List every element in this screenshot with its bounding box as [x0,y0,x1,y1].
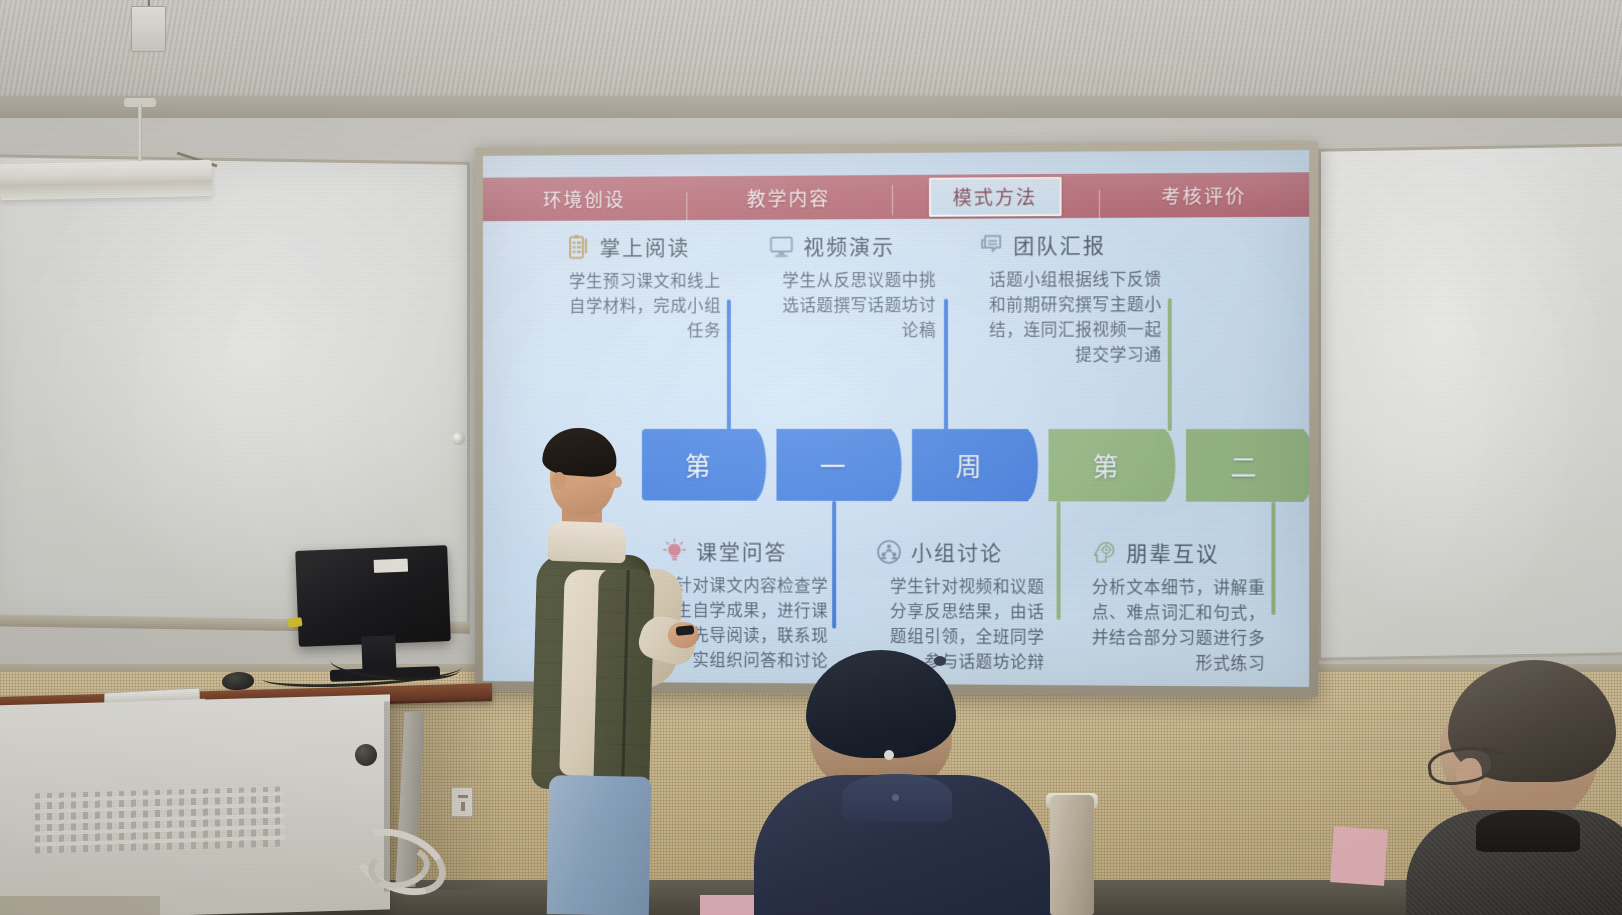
timeline-segment-5: 二 [1186,429,1304,502]
chevron-right-icon [753,429,787,501]
head-gear-icon [1091,540,1117,566]
presenter [500,418,700,915]
top-item-team-report: 团队汇报 话题小组根据线下反馈和前期研究撰写主题小结，连同汇报视频一起提交学习通 [978,230,1162,369]
timeline-segment-2: 一 [776,429,892,501]
light-rod [138,104,142,166]
connector-line-6 [1271,502,1281,615]
presenter-trousers [547,775,651,915]
clipboard-icon [565,234,591,260]
monitor-icon [769,233,795,259]
cap-strap [836,740,916,753]
item-title: 团队汇报 [1013,230,1106,261]
nav-tab-label-active: 模式方法 [929,176,1062,216]
lectern-lock-knob[interactable] [355,744,377,766]
item-header: 朋辈互议 [1091,538,1265,569]
item-title: 朋辈互议 [1126,538,1219,569]
slide-nav-bar: 环境创设 教学内容 模式方法 考核评价 [483,172,1309,221]
presenter-collar [547,521,626,564]
presenter-hair [541,425,618,478]
lectern-vents [35,787,285,854]
timeline-segment-3: 周 [912,429,1028,501]
fluorescent-light-icon [0,160,212,200]
item-header: 小组讨论 [876,537,1044,568]
nav-tab-label: 考核评价 [1161,185,1246,208]
segment-label: 二 [1230,447,1260,484]
presenter-ear [552,472,566,490]
item-header: 视频演示 [769,231,936,262]
item-title: 掌上阅读 [600,232,691,262]
lectern-monitor [295,545,451,647]
connector-line-1 [727,299,737,430]
audience-member-glasses [1430,660,1622,915]
item-body: 学生预习课文和线上自学材料，完成小组任务 [565,269,721,344]
nav-tab-moshifangfa[interactable]: 模式方法 [892,176,1100,216]
chevron-right-icon [1300,429,1309,502]
item-header: 团队汇报 [978,230,1162,261]
audience-collar-button [892,794,899,801]
connector-line-4 [832,501,842,629]
speech-bubble-icon [978,232,1004,258]
top-item-palm-reading: 掌上阅读 学生预习课文和线上自学材料，完成小组任务 [565,232,721,344]
whiteboard-right [1318,143,1622,660]
top-items-row: 掌上阅读 学生预习课文和线上自学材料，完成小组任务 [483,229,1309,411]
audience-member-cap [744,650,1074,915]
nav-tab-label: 环境创设 [543,189,626,211]
monitor-label-sticker [374,559,408,573]
presentation-clicker-icon[interactable] [676,625,695,636]
yellow-cable-clip [287,617,302,628]
group-discussion-icon [876,539,902,565]
item-header: 掌上阅读 [565,232,721,263]
item-body: 话题小组根据线下反馈和前期研究撰写主题小结，连同汇报视频一起提交学习通 [978,267,1162,368]
segment-label: 一 [820,446,849,483]
timeline-segment-4: 第 [1048,429,1165,502]
thermos-flask-icon [1050,795,1094,915]
item-body: 分析文本细节，讲解重点、难点词汇和句式，并结合部分习题进行多形式练习 [1091,575,1265,677]
nav-tab-kaohepingjia[interactable]: 考核评价 [1099,181,1309,209]
nav-tab-label: 教学内容 [747,188,830,210]
item-title: 小组讨论 [911,537,1003,567]
chevron-right-icon [888,429,922,501]
connector-line-5 [1057,501,1067,620]
ceiling-sensor-box [131,6,166,52]
foreground-paper-right [1330,826,1388,886]
front-desk-edge [0,896,160,915]
connector-line-2 [944,299,954,431]
segment-label: 第 [1092,447,1121,484]
item-title: 视频演示 [803,231,895,261]
nav-tab-jiaoxueneirong[interactable]: 教学内容 [686,184,891,212]
nav-tab-huanjingchuangshe[interactable]: 环境创设 [483,185,686,213]
classroom-scene: 环境创设 教学内容 模式方法 考核评价 [0,0,1622,915]
item-title: 课堂问答 [696,536,787,566]
audience-collar [1476,810,1580,852]
cap-button [934,656,946,666]
chevron-right-icon [1162,429,1196,502]
item-body: 学生从反思议题中挑选话题撰写话题坊讨论稿 [769,268,936,344]
cap-strap-clip [884,750,894,760]
chevron-right-icon [1024,429,1058,501]
whiteboard-knob [452,432,465,445]
bottom-item-peer-discussion: 朋辈互议 分析文本细节，讲解重点、难点词汇和句式，并结合部分习题进行多形式练习 [1091,538,1265,677]
connector-line-3 [1168,298,1178,431]
segment-label: 周 [956,447,985,484]
top-item-video-demo: 视频演示 学生从反思议题中挑选话题撰写话题坊讨论稿 [769,231,936,344]
